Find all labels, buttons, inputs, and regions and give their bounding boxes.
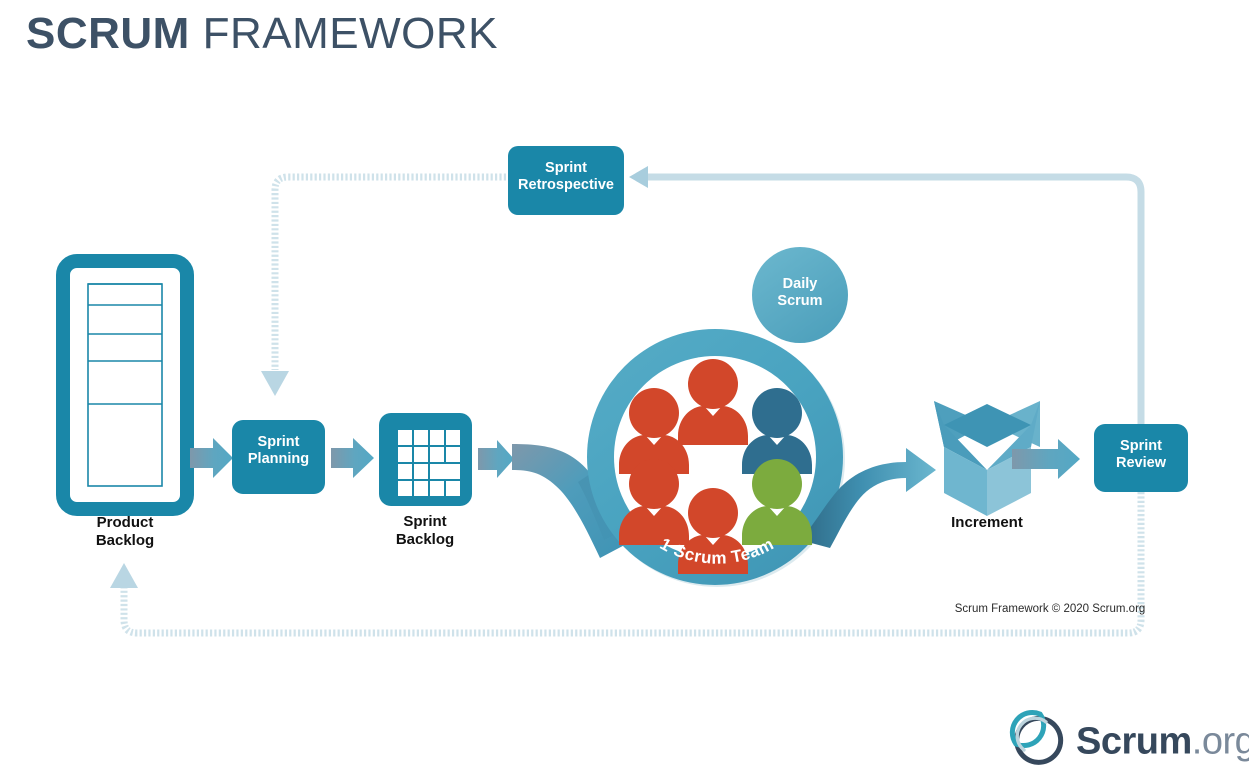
arrow-planning-to-sprint-backlog <box>331 438 374 478</box>
copyright-notice: Scrum Framework © 2020 Scrum.org <box>950 603 1150 615</box>
sprint-backlog-caption-line1: Sprint <box>355 513 495 531</box>
product-backlog-caption-line2: Backlog <box>55 532 195 550</box>
arrow-backlog-to-planning <box>190 438 233 478</box>
scrum-org-logo-mark <box>1000 706 1070 766</box>
scrum-framework-diagram: SCRUM FRAMEWORK <box>0 0 1249 779</box>
sprint-planning-box[interactable] <box>232 420 325 494</box>
product-backlog-caption: Product Backlog <box>55 514 195 550</box>
sprint-retrospective-box[interactable] <box>508 146 624 215</box>
logo-light: .org <box>1192 721 1249 763</box>
sprint-backlog-caption: Sprint Backlog <box>355 513 495 549</box>
logo-bold: Scrum <box>1076 721 1192 763</box>
product-backlog-caption-line1: Product <box>55 514 195 532</box>
sprint-backlog-shape <box>379 413 472 506</box>
product-backlog-shape <box>63 261 187 509</box>
scrum-org-logo: Scrum.org™ <box>1000 706 1232 766</box>
diagram-canvas: 1 Scrum Team <box>0 0 1249 779</box>
loop-retrospective-to-planning <box>261 177 506 396</box>
increment-caption: Increment <box>917 514 1057 532</box>
sprint-backlog-caption-line2: Backlog <box>355 531 495 549</box>
daily-scrum-circle[interactable] <box>752 247 848 343</box>
scrum-org-logo-text: Scrum.org™ <box>1076 714 1249 764</box>
sprint-review-box[interactable] <box>1094 424 1188 492</box>
